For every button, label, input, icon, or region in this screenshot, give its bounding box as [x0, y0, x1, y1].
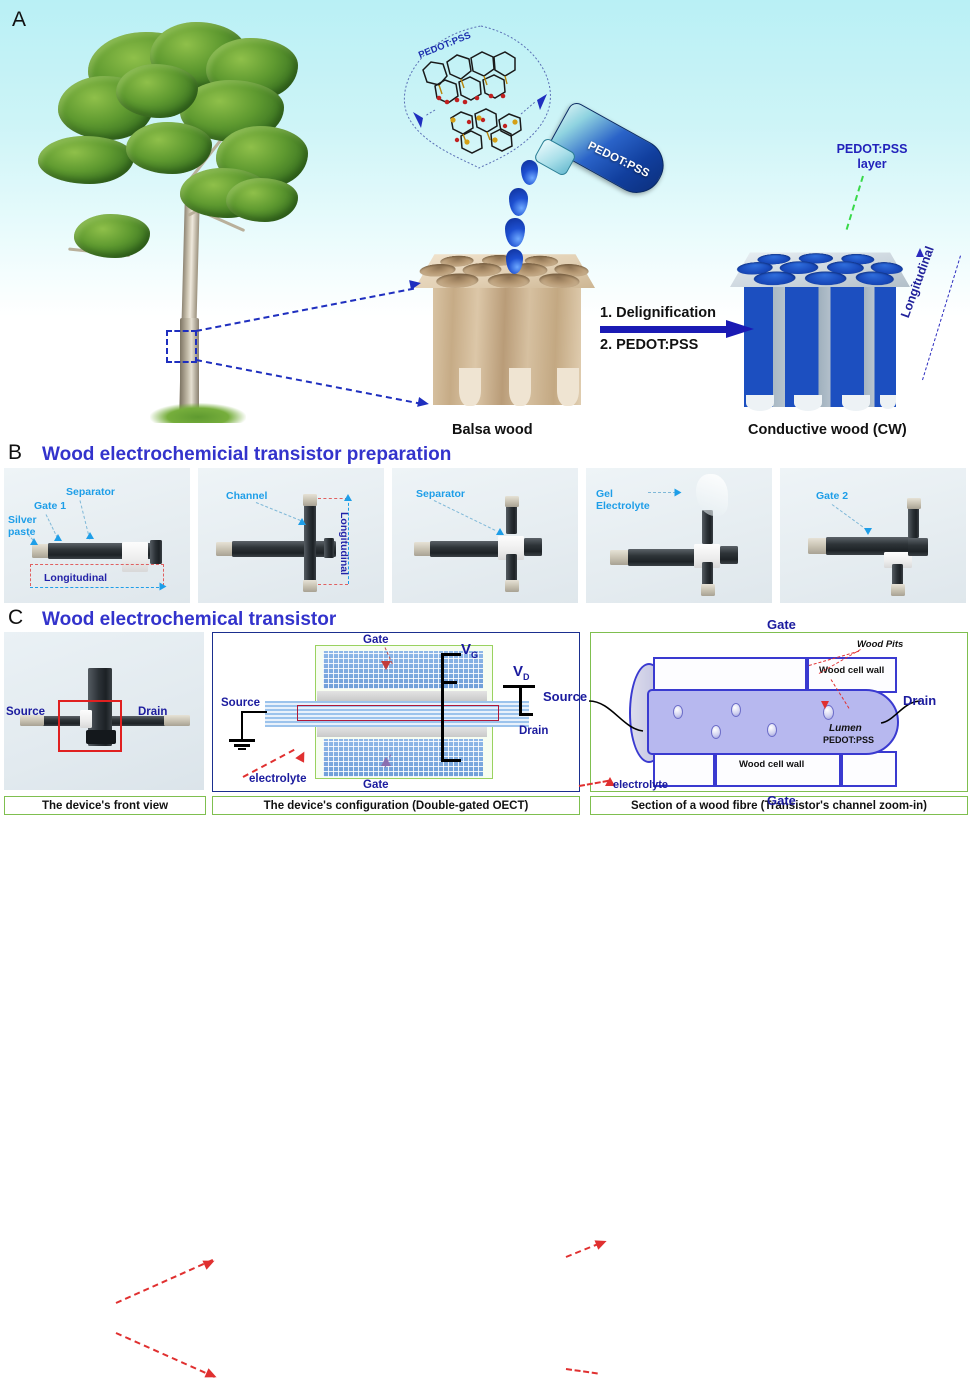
right-zoom-leader-top [566, 1243, 600, 1258]
gate-bottom-label: Gate [363, 779, 389, 791]
separator-top [317, 691, 487, 701]
caption-front-view-text: The device's front view [42, 800, 168, 812]
electrolyte-label-right: electrolyte [613, 779, 668, 791]
grass [150, 403, 246, 423]
pedot-layer-line-1: PEDOT:PSS [837, 142, 908, 156]
caption-configuration-text: The device's configuration (Double-gated… [264, 800, 529, 812]
cw-top-face [730, 252, 910, 287]
gate-top-label-right: Gate [767, 617, 796, 632]
label-gel-electrolyte: Gel Electrolyte [596, 488, 650, 512]
pedot-layer-label: PEDOT:PSS layer [812, 142, 932, 172]
drain-label: Drain [519, 725, 548, 737]
zoom-region-box [58, 700, 122, 752]
lumen-label: Lumen [829, 723, 862, 734]
caption-front-view: The device's front view [4, 796, 206, 815]
gate-pad-bottom [323, 739, 483, 777]
separator-bottom [317, 727, 487, 737]
vg-symbol: V [461, 641, 471, 658]
pedot-pss-label-right: PEDOT:PSS [823, 735, 874, 745]
panel-b-photo-3: Separator [392, 468, 578, 603]
panel-b-photo-2: Channel Longitudinal [198, 468, 384, 603]
wood-cell-wall-top-left [653, 657, 807, 693]
vg-label: VG [461, 641, 478, 660]
balsa-wood-caption: Balsa wood [452, 422, 533, 438]
gate-bottom-label-right: Gate [767, 793, 796, 808]
cell-wall-text-2: Wood cell wall [739, 759, 804, 770]
device-front-view-photo: Source Drain [4, 632, 204, 790]
conductive-wood-caption: Conductive wood (CW) [748, 422, 907, 438]
vg-subscript: G [471, 650, 478, 660]
step-1-label: 1. Delignification [600, 305, 780, 321]
label-longitudinal-1: Longitudinal [44, 572, 107, 584]
panel-b-photo-4: Gel Electrolyte [586, 468, 772, 603]
caption-configuration: The device's configuration (Double-gated… [212, 796, 580, 815]
label-gate-2: Gate 2 [816, 490, 848, 502]
electrolyte-label-middle: electrolyte [249, 773, 307, 785]
longitudinal-axis-arrow [922, 256, 961, 381]
process-steps: 1. Delignification 2. PEDOT:PSS [600, 305, 780, 353]
gate-pad-top [323, 651, 483, 689]
panel-b-title: Wood electrochemicial transistor prepara… [42, 444, 451, 466]
vd-subscript: D [523, 672, 530, 682]
label-separator-1: Separator [66, 486, 115, 498]
step-2-label: 2. PEDOT:PSS [600, 337, 780, 353]
pedot-drop-2 [509, 188, 528, 216]
gate-top-label: Gate [363, 634, 389, 646]
lumen-region [647, 689, 899, 755]
panel-c-letter: C [8, 606, 23, 630]
panel-c-title: Wood electrochemical transistor [42, 609, 336, 631]
label-separator-2: Separator [416, 488, 465, 500]
label-gate-1: Gate 1 [34, 500, 66, 512]
zoom-leader-top [116, 1259, 214, 1304]
drain-label-right: Drain [903, 693, 936, 708]
balsa-wood-block [415, 218, 595, 413]
trunk-zoom-box [166, 330, 197, 363]
wood-fibre-section-diagram: Gate Wood Pits Wood cell wall Wood cell … [590, 632, 968, 792]
panel-a: A [0, 0, 970, 440]
panel-b-photo-5: Gate 2 [780, 468, 966, 603]
vd-label: VD [513, 663, 530, 682]
front-view-drain-label: Drain [138, 706, 167, 718]
zoom-leader-bottom [116, 1332, 215, 1378]
source-label: Source [221, 697, 260, 709]
right-zoom-leader-bottom [566, 1368, 598, 1374]
panel-c: C Wood electrochemical transistor Source… [0, 608, 970, 816]
channel-highlight [297, 705, 499, 721]
figure-root: A [0, 0, 970, 816]
wood-cell-wall-bottom-right [841, 751, 897, 787]
process-arrow [600, 324, 758, 335]
panel-b-letter: B [8, 441, 22, 465]
pedot-flask: PEDOT:PSS [533, 118, 668, 203]
panel-a-letter: A [12, 8, 26, 32]
tree-illustration [30, 18, 298, 418]
label-silver-paste: Silver paste [8, 514, 37, 538]
label-longitudinal-2: Longitudinal [338, 512, 350, 575]
oect-configuration-diagram: Gate Gate Source Drain VD VG electrolyte [212, 632, 580, 792]
panel-b: B Wood electrochemicial transistor prepa… [0, 440, 970, 608]
front-view-source-label: Source [6, 706, 45, 718]
wood-pits-label: Wood Pits [857, 639, 903, 650]
source-label-right: Source [543, 689, 587, 704]
panel-b-photo-1: Silver paste Gate 1 Separator Longitudin… [4, 468, 190, 603]
balsa-top-face [415, 254, 595, 288]
pedot-layer-line-2: layer [857, 157, 886, 171]
vd-symbol: V [513, 663, 523, 680]
label-channel: Channel [226, 490, 267, 502]
